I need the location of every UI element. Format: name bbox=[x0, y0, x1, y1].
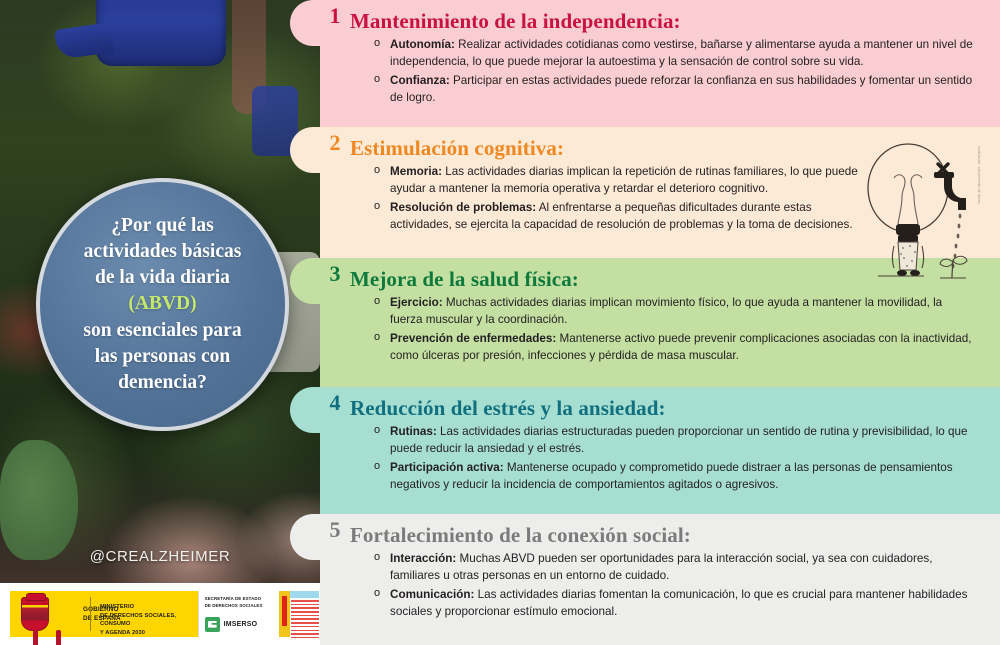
ministerio-line-3: Y AGENDA 2030 bbox=[100, 629, 198, 638]
section-1-list: Autonomía: Realizar actividades cotidian… bbox=[350, 37, 974, 106]
item-term: Ejercicio: bbox=[390, 296, 443, 309]
question-line-4: son esenciales para bbox=[83, 320, 241, 341]
item-text: Las actividades diarias fomentan la comu… bbox=[390, 588, 968, 618]
glove-shape bbox=[0, 440, 78, 560]
ministerio-label: MINISTERIO DE DERECHOS SOCIALES, CONSUMO… bbox=[100, 603, 198, 637]
item-term: Participación activa: bbox=[390, 461, 504, 474]
list-item: Resolución de problemas: Al enfrentarse … bbox=[376, 200, 870, 233]
section-2-title: Estimulación cognitiva: bbox=[350, 127, 870, 164]
item-text: Realizar actividades cotidianas como ves… bbox=[390, 38, 973, 68]
item-term: Resolución de problemas: bbox=[390, 201, 536, 214]
list-item: Memoria: Las actividades diarias implica… bbox=[376, 164, 870, 197]
item-text: Las actividades diarias implican la repe… bbox=[390, 165, 858, 195]
section-5-title: Fortalecimiento de la conexión social: bbox=[350, 514, 974, 551]
section-1: 1 Mantenimiento de la independencia: Aut… bbox=[320, 0, 1000, 127]
crea-text-lines-icon bbox=[291, 600, 319, 640]
question-circle: ¿Por qué las actividades básicas de la v… bbox=[36, 178, 289, 431]
item-term: Memoria: bbox=[390, 165, 442, 178]
list-item: Comunicación: Las actividades diarias fo… bbox=[376, 587, 974, 620]
list-item: Ejercicio: Muchas actividades diarias im… bbox=[376, 295, 974, 328]
logo-bar: GOBIERNO DE ESPAÑA MINISTERIO DE DERECHO… bbox=[0, 583, 320, 645]
section-1-number: 1 bbox=[318, 3, 352, 29]
item-text: Participar en estas actividades puede re… bbox=[390, 74, 972, 104]
secretaria-label: SECRETARÍA DE ESTADO DE DERECHOS SOCIALE… bbox=[205, 596, 274, 609]
section-3-title: Mejora de la salud física: bbox=[350, 258, 974, 295]
logo-divider bbox=[90, 597, 91, 631]
crea-bar-inner-icon bbox=[282, 596, 287, 626]
question-line-1: ¿Por qué las bbox=[111, 215, 214, 236]
section-3-number: 3 bbox=[318, 261, 352, 287]
item-term: Rutinas: bbox=[390, 425, 437, 438]
item-term: Interacción: bbox=[390, 552, 456, 565]
section-4-list: Rutinas: Las actividades diarias estruct… bbox=[350, 424, 974, 493]
question-line-5: las personas con bbox=[95, 346, 230, 367]
question-line-2: actividades básicas bbox=[84, 241, 242, 262]
item-term: Comunicación: bbox=[390, 588, 474, 601]
gobierno-de-espana-logo: GOBIERNO DE ESPAÑA MINISTERIO DE DERECHO… bbox=[10, 591, 198, 637]
section-5-list: Interacción: Muchas ABVD pueden ser opor… bbox=[350, 551, 974, 620]
section-3: 3 Mejora de la salud física: Ejercicio: … bbox=[320, 258, 1000, 387]
question-text: ¿Por qué las actividades básicas de la v… bbox=[71, 213, 253, 396]
list-item: Autonomía: Realizar actividades cotidian… bbox=[376, 37, 974, 70]
imserso-row: IMSERSO bbox=[205, 617, 274, 632]
item-term: Prevención de enfermedades: bbox=[390, 332, 556, 345]
section-2-number: 2 bbox=[318, 130, 352, 156]
ministerio-line-2: DE DERECHOS SOCIALES, CONSUMO bbox=[100, 612, 198, 629]
section-5: 5 Fortalecimiento de la conexión social:… bbox=[320, 514, 1000, 645]
social-handle: @CREALZHEIMER bbox=[0, 548, 320, 565]
imserso-mark-icon bbox=[205, 617, 220, 632]
question-line-3: de la vida diaria bbox=[95, 267, 230, 288]
section-4: 4 Reducción del estrés y la ansiedad: Ru… bbox=[320, 387, 1000, 514]
item-text: Las actividades diarias estructuradas pu… bbox=[390, 425, 968, 455]
section-2-list: Memoria: Las actividades diarias implica… bbox=[350, 164, 870, 233]
section-3-list: Ejercicio: Muchas actividades diarias im… bbox=[350, 295, 974, 364]
crea-top-band-icon bbox=[290, 591, 319, 598]
secretaria-line-1: SECRETARÍA DE ESTADO bbox=[205, 596, 274, 603]
abvd-acronym: (ABVD) bbox=[128, 293, 196, 314]
list-item: Prevención de enfermedades: Mantenerse a… bbox=[376, 331, 974, 364]
secretaria-line-2: DE DERECHOS SOCIALES bbox=[205, 603, 274, 610]
infographic-page: ¿Por qué las actividades básicas de la v… bbox=[0, 0, 1000, 645]
list-item: Confianza: Participar en estas actividad… bbox=[376, 73, 974, 106]
item-text: Muchas actividades diarias implican movi… bbox=[390, 296, 942, 326]
imserso-label: IMSERSO bbox=[224, 621, 258, 628]
section-1-title: Mantenimiento de la independencia: bbox=[350, 0, 974, 37]
section-2: 2 Estimulación cognitiva: Memoria: Las a… bbox=[320, 127, 1000, 258]
crea-alzheimer-logo bbox=[277, 588, 320, 640]
imserso-logo: SECRETARÍA DE ESTADO DE DERECHOS SOCIALE… bbox=[198, 591, 274, 637]
ministerio-line-1: MINISTERIO bbox=[100, 603, 198, 612]
watering-can-shape bbox=[96, 0, 226, 66]
question-line-6: demencia? bbox=[118, 372, 207, 393]
list-item: Rutinas: Las actividades diarias estruct… bbox=[376, 424, 974, 457]
section-4-number: 4 bbox=[318, 390, 352, 416]
item-term: Confianza: bbox=[390, 74, 450, 87]
section-5-number: 5 bbox=[318, 517, 352, 543]
section-4-title: Reducción del estrés y la ansiedad: bbox=[350, 387, 974, 424]
spain-coat-of-arms-icon bbox=[21, 597, 49, 631]
item-term: Autonomía: bbox=[390, 38, 455, 51]
list-item: Interacción: Muchas ABVD pueden ser opor… bbox=[376, 551, 974, 584]
list-item: Participación activa: Mantenerse ocupado… bbox=[376, 460, 974, 493]
sections-container: 1 Mantenimiento de la independencia: Aut… bbox=[320, 0, 1000, 645]
item-text: Muchas ABVD pueden ser oportunidades par… bbox=[390, 552, 932, 582]
